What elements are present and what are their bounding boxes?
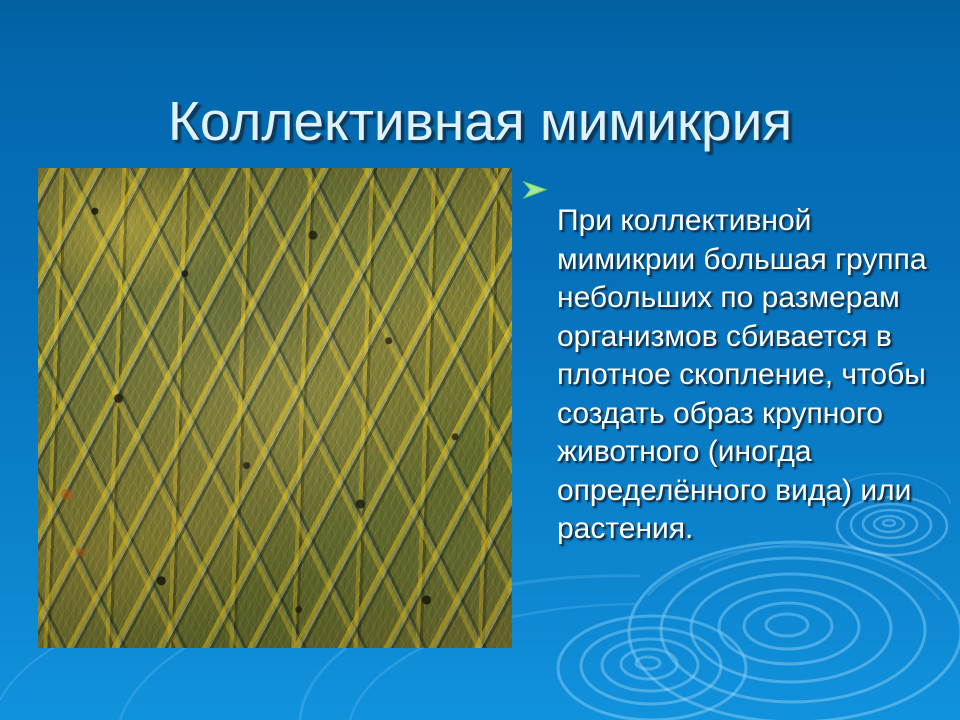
bullet-item-text: При коллективной мимикрии большая группа…	[557, 202, 929, 549]
caterpillar-cluster-photo	[38, 168, 512, 648]
presentation-slide: Коллективная мимикрия При коллективной м…	[0, 0, 960, 720]
photo-shading	[38, 168, 512, 648]
bullet-list: При коллективной мимикрии большая группа…	[522, 172, 942, 579]
slide-title: Коллективная мимикрия	[0, 89, 960, 153]
green-arrow-bullet-icon	[522, 180, 548, 205]
ripple-medium	[558, 616, 746, 720]
